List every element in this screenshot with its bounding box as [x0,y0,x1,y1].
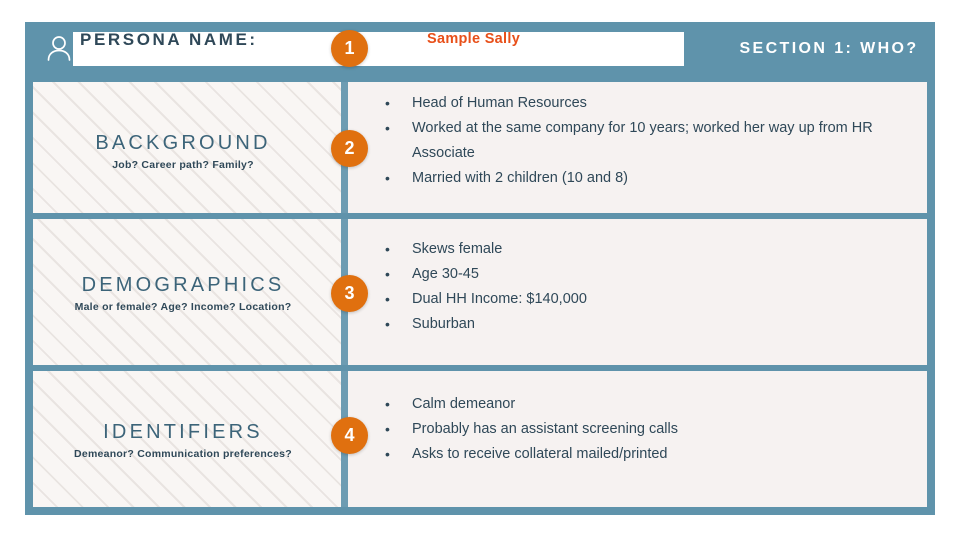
category-demographics: DEMOGRAPHICS Male or female? Age? Income… [33,274,333,313]
row-background: BACKGROUND Job? Career path? Family? Hea… [33,82,927,213]
category-demographics-subtitle: Male or female? Age? Income? Location? [33,301,333,313]
list-item: Calm demeanor [375,392,935,417]
category-identifiers-title: IDENTIFIERS [33,421,333,444]
background-bullet-list: Head of Human Resources Worked at the sa… [375,91,935,191]
list-item: Dual HH Income: $140,000 [375,287,935,312]
category-identifiers-subtitle: Demeanor? Communication preferences? [33,448,333,460]
list-item: Worked at the same company for 10 years;… [375,116,935,166]
persona-name-value[interactable]: Sample Sally [427,31,520,47]
step-badge-3[interactable]: 3 [331,275,368,312]
section-title: SECTION 1: WHO? [709,40,949,58]
row-demographics: DEMOGRAPHICS Male or female? Age? Income… [33,219,927,365]
identifiers-bullet-list: Calm demeanor Probably has an assistant … [375,392,935,467]
list-item: Skews female [375,237,935,262]
list-item: Age 30-45 [375,262,935,287]
list-item: Head of Human Resources [375,91,935,116]
person-icon [43,33,75,63]
persona-worksheet: PERSONA NAME: Sample Sally SECTION 1: WH… [0,0,960,540]
category-identifiers: IDENTIFIERS Demeanor? Communication pref… [33,421,333,460]
category-background-title: BACKGROUND [33,132,333,155]
list-item: Probably has an assistant screening call… [375,417,935,442]
step-badge-4[interactable]: 4 [331,417,368,454]
list-item: Married with 2 children (10 and 8) [375,166,935,191]
persona-header: PERSONA NAME: Sample Sally SECTION 1: WH… [25,22,935,74]
list-item: Asks to receive collateral mailed/printe… [375,442,935,467]
category-background-subtitle: Job? Career path? Family? [33,159,333,171]
category-background: BACKGROUND Job? Career path? Family? [33,132,333,171]
category-demographics-title: DEMOGRAPHICS [33,274,333,297]
step-badge-1[interactable]: 1 [331,30,368,67]
row-identifiers: IDENTIFIERS Demeanor? Communication pref… [33,371,927,507]
step-badge-2[interactable]: 2 [331,130,368,167]
demographics-bullet-list: Skews female Age 30-45 Dual HH Income: $… [375,237,935,337]
persona-name-label: PERSONA NAME: [80,30,258,50]
list-item: Suburban [375,312,935,337]
